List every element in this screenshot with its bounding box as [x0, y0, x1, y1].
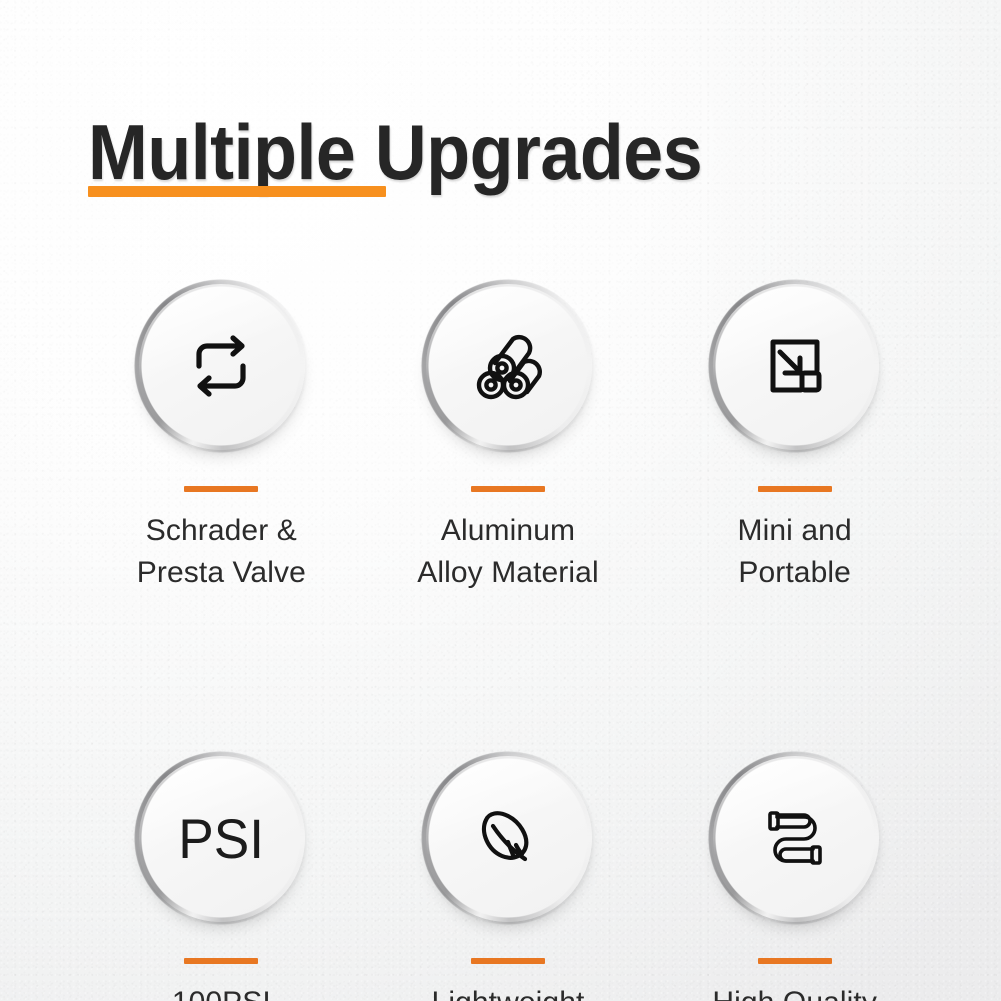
feature-grid: Schrader & Presta Valve — [78, 282, 938, 1001]
feature-caption: Mini and Portable — [738, 510, 852, 594]
feature-card-100psi-high-pressure: PSI 100PSI High Pressure — [78, 754, 365, 1001]
feature-badge: PSI — [137, 754, 305, 922]
page-title: Multiple Upgrades — [88, 112, 842, 192]
shrink-minimize-icon — [711, 282, 879, 450]
feature-card-schrader-presta-valve: Schrader & Presta Valve — [78, 282, 365, 594]
feature-badge — [137, 282, 305, 450]
feature-card-lightweight: Lightweight — [365, 754, 652, 1001]
accent-dash — [471, 486, 545, 492]
feature-caption: Schrader & Presta Valve — [137, 510, 306, 594]
feather-icon — [424, 754, 592, 922]
feature-caption: Aluminum Alloy Material — [417, 510, 598, 594]
aluminum-rolls-icon — [424, 282, 592, 450]
repeat-loop-icon — [137, 282, 305, 450]
accent-dash — [184, 486, 258, 492]
title-block: Multiple Upgrades — [88, 112, 908, 192]
accent-dash — [184, 958, 258, 964]
feature-caption: Lightweight — [432, 982, 585, 1001]
psi-label: PSI — [178, 806, 264, 871]
accent-dash — [758, 486, 832, 492]
feature-badge — [424, 282, 592, 450]
feature-card-high-quality-hose: High Quality Hose — [651, 754, 938, 1001]
psi-text-icon: PSI — [137, 754, 305, 922]
accent-dash — [471, 958, 545, 964]
feature-badge — [711, 754, 879, 922]
feature-caption: High Quality Hose — [712, 982, 877, 1001]
feature-badge — [711, 282, 879, 450]
accent-dash — [758, 958, 832, 964]
feature-caption: 100PSI High Pressure — [126, 982, 317, 1001]
hose-pipe-icon — [711, 754, 879, 922]
title-underline-accent — [88, 186, 386, 197]
product-feature-poster: Multiple Upgrades Schrader & Presta Valv… — [0, 0, 1001, 1001]
feature-card-mini-and-portable: Mini and Portable — [651, 282, 938, 594]
feature-badge — [424, 754, 592, 922]
feature-card-aluminum-alloy-material: Aluminum Alloy Material — [365, 282, 652, 594]
